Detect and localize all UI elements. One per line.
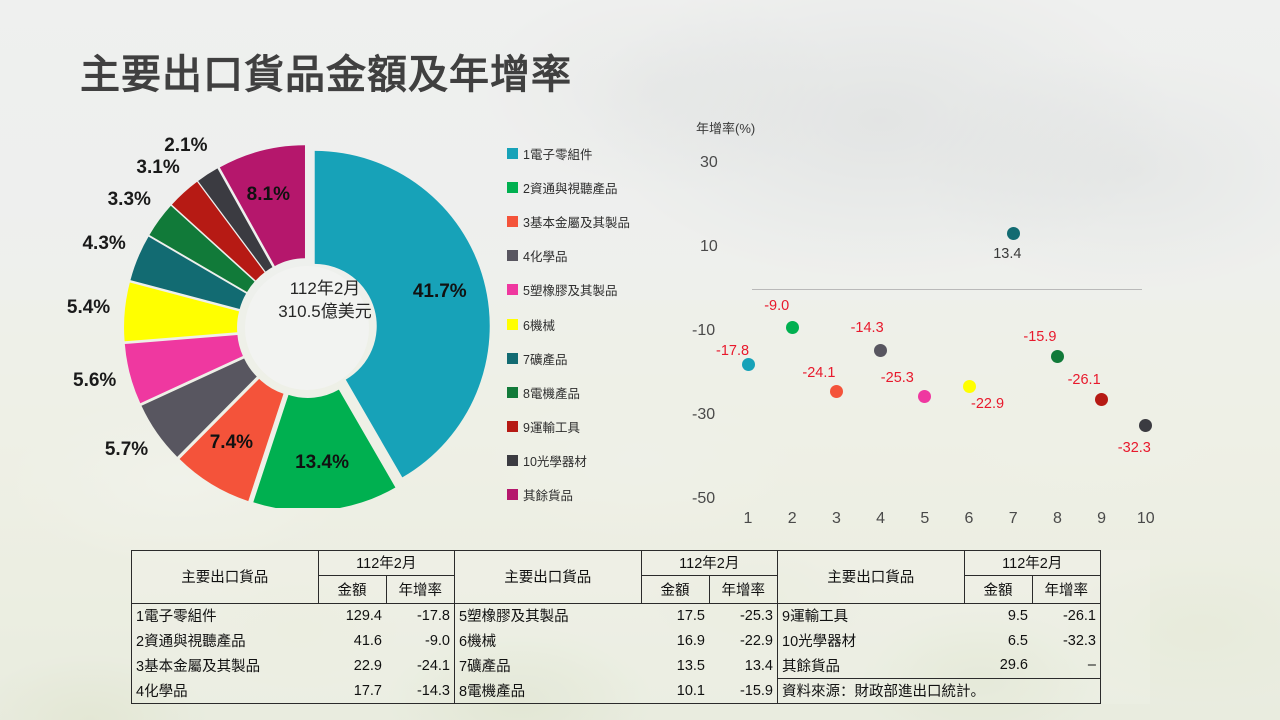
table-source-row: 資料來源：財政部進出口統計。 <box>778 678 1100 703</box>
scatter-point-label: -9.0 <box>764 298 789 314</box>
scatter-point[interactable] <box>830 385 843 398</box>
table-row: 其餘貨品29.6– <box>778 653 1100 678</box>
table-row: 1電子零組件129.4-17.8 <box>132 603 454 628</box>
cell-item-name: 8電機產品 <box>455 678 641 703</box>
donut-slice-label: 7.4% <box>210 432 253 454</box>
column-header-item: 主要出口貨品 <box>132 551 318 603</box>
scatter-x-tick: 7 <box>998 510 1028 528</box>
column-header-amount: 金額 <box>964 575 1032 603</box>
cell-yoy: – <box>1032 653 1100 678</box>
table-row: 4化學品17.7-14.3 <box>132 678 454 703</box>
cell-item-name: 3基本金屬及其製品 <box>132 653 318 678</box>
scatter-point-label: -26.1 <box>1068 372 1101 388</box>
scatter-point[interactable] <box>1007 227 1020 240</box>
scatter-x-tick: 1 <box>733 510 763 528</box>
cell-item-name: 5塑橡膠及其製品 <box>455 603 641 628</box>
page-title: 主要出口貨品金額及年增率 <box>80 42 572 100</box>
scatter-point[interactable] <box>786 321 799 334</box>
cell-yoy: -15.9 <box>709 678 777 703</box>
scatter-x-tick: 3 <box>821 510 851 528</box>
cell-item-name: 2資通與視聽產品 <box>132 628 318 653</box>
legend-item-label: 4化學品 <box>523 246 567 265</box>
data-table-block: 主要出口貨品112年2月金額年增率1電子零組件129.4-17.82資通與視聽產… <box>131 550 454 704</box>
legend-item-label: 8電機產品 <box>523 383 580 402</box>
scatter-point[interactable] <box>1139 419 1152 432</box>
legend-item-label: 1電子零組件 <box>523 144 592 163</box>
legend-swatch-icon <box>507 421 518 432</box>
table-header-row: 主要出口貨品112年2月 <box>455 551 777 575</box>
scatter-point[interactable] <box>874 344 887 357</box>
slide-canvas: 主要出口貨品金額及年增率 112年2月 310.5億美元 41.7%13.4%7… <box>0 0 1280 720</box>
cell-yoy: -9.0 <box>386 628 454 653</box>
legend-swatch-icon <box>507 284 518 295</box>
scatter-point-label: -15.9 <box>1023 329 1056 345</box>
legend-item-label: 2資通與視聽產品 <box>523 178 617 197</box>
column-header-item: 主要出口貨品 <box>778 551 964 603</box>
scatter-point[interactable] <box>1051 350 1064 363</box>
column-header-amount: 金額 <box>318 575 386 603</box>
donut-center-line1: 112年2月 <box>240 278 410 301</box>
column-header-yoy: 年增率 <box>1032 575 1100 603</box>
chart-legend: 1電子零組件2資通與視聽產品3基本金屬及其製品4化學品5塑橡膠及其製品6機械7礦… <box>507 136 677 512</box>
legend-item[interactable]: 9運輸工具 <box>507 410 677 444</box>
legend-swatch-icon <box>507 319 518 330</box>
column-header-item: 主要出口貨品 <box>455 551 641 603</box>
legend-swatch-icon <box>507 455 518 466</box>
scatter-point-label: -25.3 <box>881 370 914 386</box>
scatter-x-tick: 6 <box>954 510 984 528</box>
cell-yoy: -24.1 <box>386 653 454 678</box>
legend-swatch-icon <box>507 182 518 193</box>
legend-item[interactable]: 8電機產品 <box>507 375 677 409</box>
column-header-period: 112年2月 <box>318 551 454 575</box>
cell-item-name: 1電子零組件 <box>132 603 318 628</box>
data-table-block: 主要出口貨品112年2月金額年增率5塑橡膠及其製品17.5-25.36機械16.… <box>454 550 777 704</box>
scatter-point-label: -32.3 <box>1118 440 1151 456</box>
legend-item-label: 其餘貨品 <box>523 485 573 504</box>
scatter-point[interactable] <box>742 358 755 371</box>
legend-swatch-icon <box>507 250 518 261</box>
donut-center-line2: 310.5億美元 <box>240 301 410 324</box>
scatter-point-label: -24.1 <box>802 365 835 381</box>
cell-item-name: 4化學品 <box>132 678 318 703</box>
cell-amount: 29.6 <box>964 653 1032 678</box>
column-header-yoy: 年增率 <box>386 575 454 603</box>
table-header-row: 主要出口貨品112年2月 <box>132 551 454 575</box>
data-table: 主要出口貨品112年2月金額年增率5塑橡膠及其製品17.5-25.36機械16.… <box>455 551 777 703</box>
scatter-y-tick: -30 <box>692 406 715 424</box>
legend-swatch-icon <box>507 353 518 364</box>
donut-slice-label: 3.1% <box>136 157 179 179</box>
legend-swatch-icon <box>507 148 518 159</box>
cell-amount: 6.5 <box>964 628 1032 653</box>
table-row: 8電機產品10.1-15.9 <box>455 678 777 703</box>
cell-yoy: -14.3 <box>386 678 454 703</box>
cell-item-name: 其餘貨品 <box>778 653 964 678</box>
donut-slice-label: 8.1% <box>247 184 290 206</box>
cell-yoy: 13.4 <box>709 653 777 678</box>
cell-yoy: -22.9 <box>709 628 777 653</box>
scatter-x-tick: 9 <box>1087 510 1117 528</box>
table-header-row: 主要出口貨品112年2月 <box>778 551 1100 575</box>
legend-item-label: 5塑橡膠及其製品 <box>523 280 617 299</box>
cell-item-name: 10光學器材 <box>778 628 964 653</box>
donut-slice-label: 5.4% <box>67 297 110 319</box>
donut-center-text: 112年2月 310.5億美元 <box>240 278 410 324</box>
donut-slice-label: 3.3% <box>108 189 151 211</box>
source-note: 資料來源：財政部進出口統計。 <box>778 678 1100 703</box>
data-tables: 主要出口貨品112年2月金額年增率1電子零組件129.4-17.82資通與視聽產… <box>131 550 1150 704</box>
legend-item-label: 3基本金屬及其製品 <box>523 212 630 231</box>
legend-item-label: 6機械 <box>523 315 555 334</box>
legend-item-label: 10光學器材 <box>523 451 587 470</box>
donut-slice-label: 13.4% <box>295 452 349 474</box>
table-row: 3基本金屬及其製品22.9-24.1 <box>132 653 454 678</box>
table-row: 5塑橡膠及其製品17.5-25.3 <box>455 603 777 628</box>
legend-item[interactable]: 10光學器材 <box>507 444 677 478</box>
legend-item[interactable]: 其餘貨品 <box>507 478 677 512</box>
table-row: 7礦產品13.513.4 <box>455 653 777 678</box>
legend-item[interactable]: 6機械 <box>507 307 677 341</box>
cell-amount: 9.5 <box>964 603 1032 628</box>
cell-yoy: -32.3 <box>1032 628 1100 653</box>
scatter-chart: 年增率(%) 3010-10-30-50 12345678910 -17.8-9… <box>690 110 1170 535</box>
scatter-y-tick: 10 <box>700 238 718 256</box>
legend-item-label: 9運輸工具 <box>523 417 580 436</box>
scatter-x-tick: 8 <box>1042 510 1072 528</box>
donut-slice-label: 4.3% <box>82 233 125 255</box>
scatter-point[interactable] <box>1095 393 1108 406</box>
scatter-point-label: -14.3 <box>851 320 884 336</box>
legend-item[interactable]: 3基本金屬及其製品 <box>507 204 677 238</box>
scatter-x-tick: 2 <box>777 510 807 528</box>
cell-amount: 10.1 <box>641 678 709 703</box>
legend-item[interactable]: 2資通與視聽產品 <box>507 170 677 204</box>
column-header-yoy: 年增率 <box>709 575 777 603</box>
scatter-point[interactable] <box>918 390 931 403</box>
table-row: 10光學器材6.5-32.3 <box>778 628 1100 653</box>
scatter-y-tick: 30 <box>700 154 718 172</box>
donut-slice-label: 41.7% <box>413 281 467 303</box>
table-row: 2資通與視聽產品41.6-9.0 <box>132 628 454 653</box>
cell-item-name: 7礦產品 <box>455 653 641 678</box>
column-header-period: 112年2月 <box>641 551 777 575</box>
legend-item[interactable]: 4化學品 <box>507 239 677 273</box>
scatter-x-tick: 5 <box>910 510 940 528</box>
data-table: 主要出口貨品112年2月金額年增率1電子零組件129.4-17.82資通與視聽產… <box>132 551 454 703</box>
cell-amount: 13.5 <box>641 653 709 678</box>
scatter-x-tick: 10 <box>1131 510 1161 528</box>
legend-swatch-icon <box>507 216 518 227</box>
data-table: 主要出口貨品112年2月金額年增率9運輸工具9.5-26.110光學器材6.5-… <box>778 551 1100 703</box>
cell-yoy: -26.1 <box>1032 603 1100 628</box>
cell-amount: 16.9 <box>641 628 709 653</box>
zero-reference-line <box>752 289 1142 290</box>
column-header-amount: 金額 <box>641 575 709 603</box>
scatter-axis-title: 年增率(%) <box>696 118 755 137</box>
table-row: 6機械16.9-22.9 <box>455 628 777 653</box>
cell-item-name: 6機械 <box>455 628 641 653</box>
scatter-y-tick: -10 <box>692 322 715 340</box>
scatter-point-label: -22.9 <box>971 396 1004 412</box>
cell-amount: 41.6 <box>318 628 386 653</box>
legend-swatch-icon <box>507 387 518 398</box>
scatter-point[interactable] <box>963 380 976 393</box>
scatter-point-label: 13.4 <box>993 246 1021 262</box>
donut-slice-label: 2.1% <box>164 135 207 157</box>
legend-item-label: 7礦產品 <box>523 349 567 368</box>
column-header-period: 112年2月 <box>964 551 1100 575</box>
legend-swatch-icon <box>507 489 518 500</box>
data-table-block: 主要出口貨品112年2月金額年增率9運輸工具9.5-26.110光學器材6.5-… <box>777 550 1101 704</box>
cell-amount: 17.5 <box>641 603 709 628</box>
cell-yoy: -25.3 <box>709 603 777 628</box>
legend-item[interactable]: 5塑橡膠及其製品 <box>507 273 677 307</box>
scatter-x-tick: 4 <box>866 510 896 528</box>
cell-yoy: -17.8 <box>386 603 454 628</box>
donut-slice-label: 5.6% <box>73 370 116 392</box>
legend-item[interactable]: 7礦產品 <box>507 341 677 375</box>
cell-amount: 17.7 <box>318 678 386 703</box>
scatter-point-label: -17.8 <box>716 343 749 359</box>
cell-item-name: 9運輸工具 <box>778 603 964 628</box>
donut-slice-label: 5.7% <box>105 439 148 461</box>
scatter-y-tick: -50 <box>692 490 715 508</box>
donut-chart: 112年2月 310.5億美元 41.7%13.4%7.4%5.7%5.6%5.… <box>122 128 492 508</box>
table-row: 9運輸工具9.5-26.1 <box>778 603 1100 628</box>
cell-amount: 22.9 <box>318 653 386 678</box>
legend-item[interactable]: 1電子零組件 <box>507 136 677 170</box>
cell-amount: 129.4 <box>318 603 386 628</box>
